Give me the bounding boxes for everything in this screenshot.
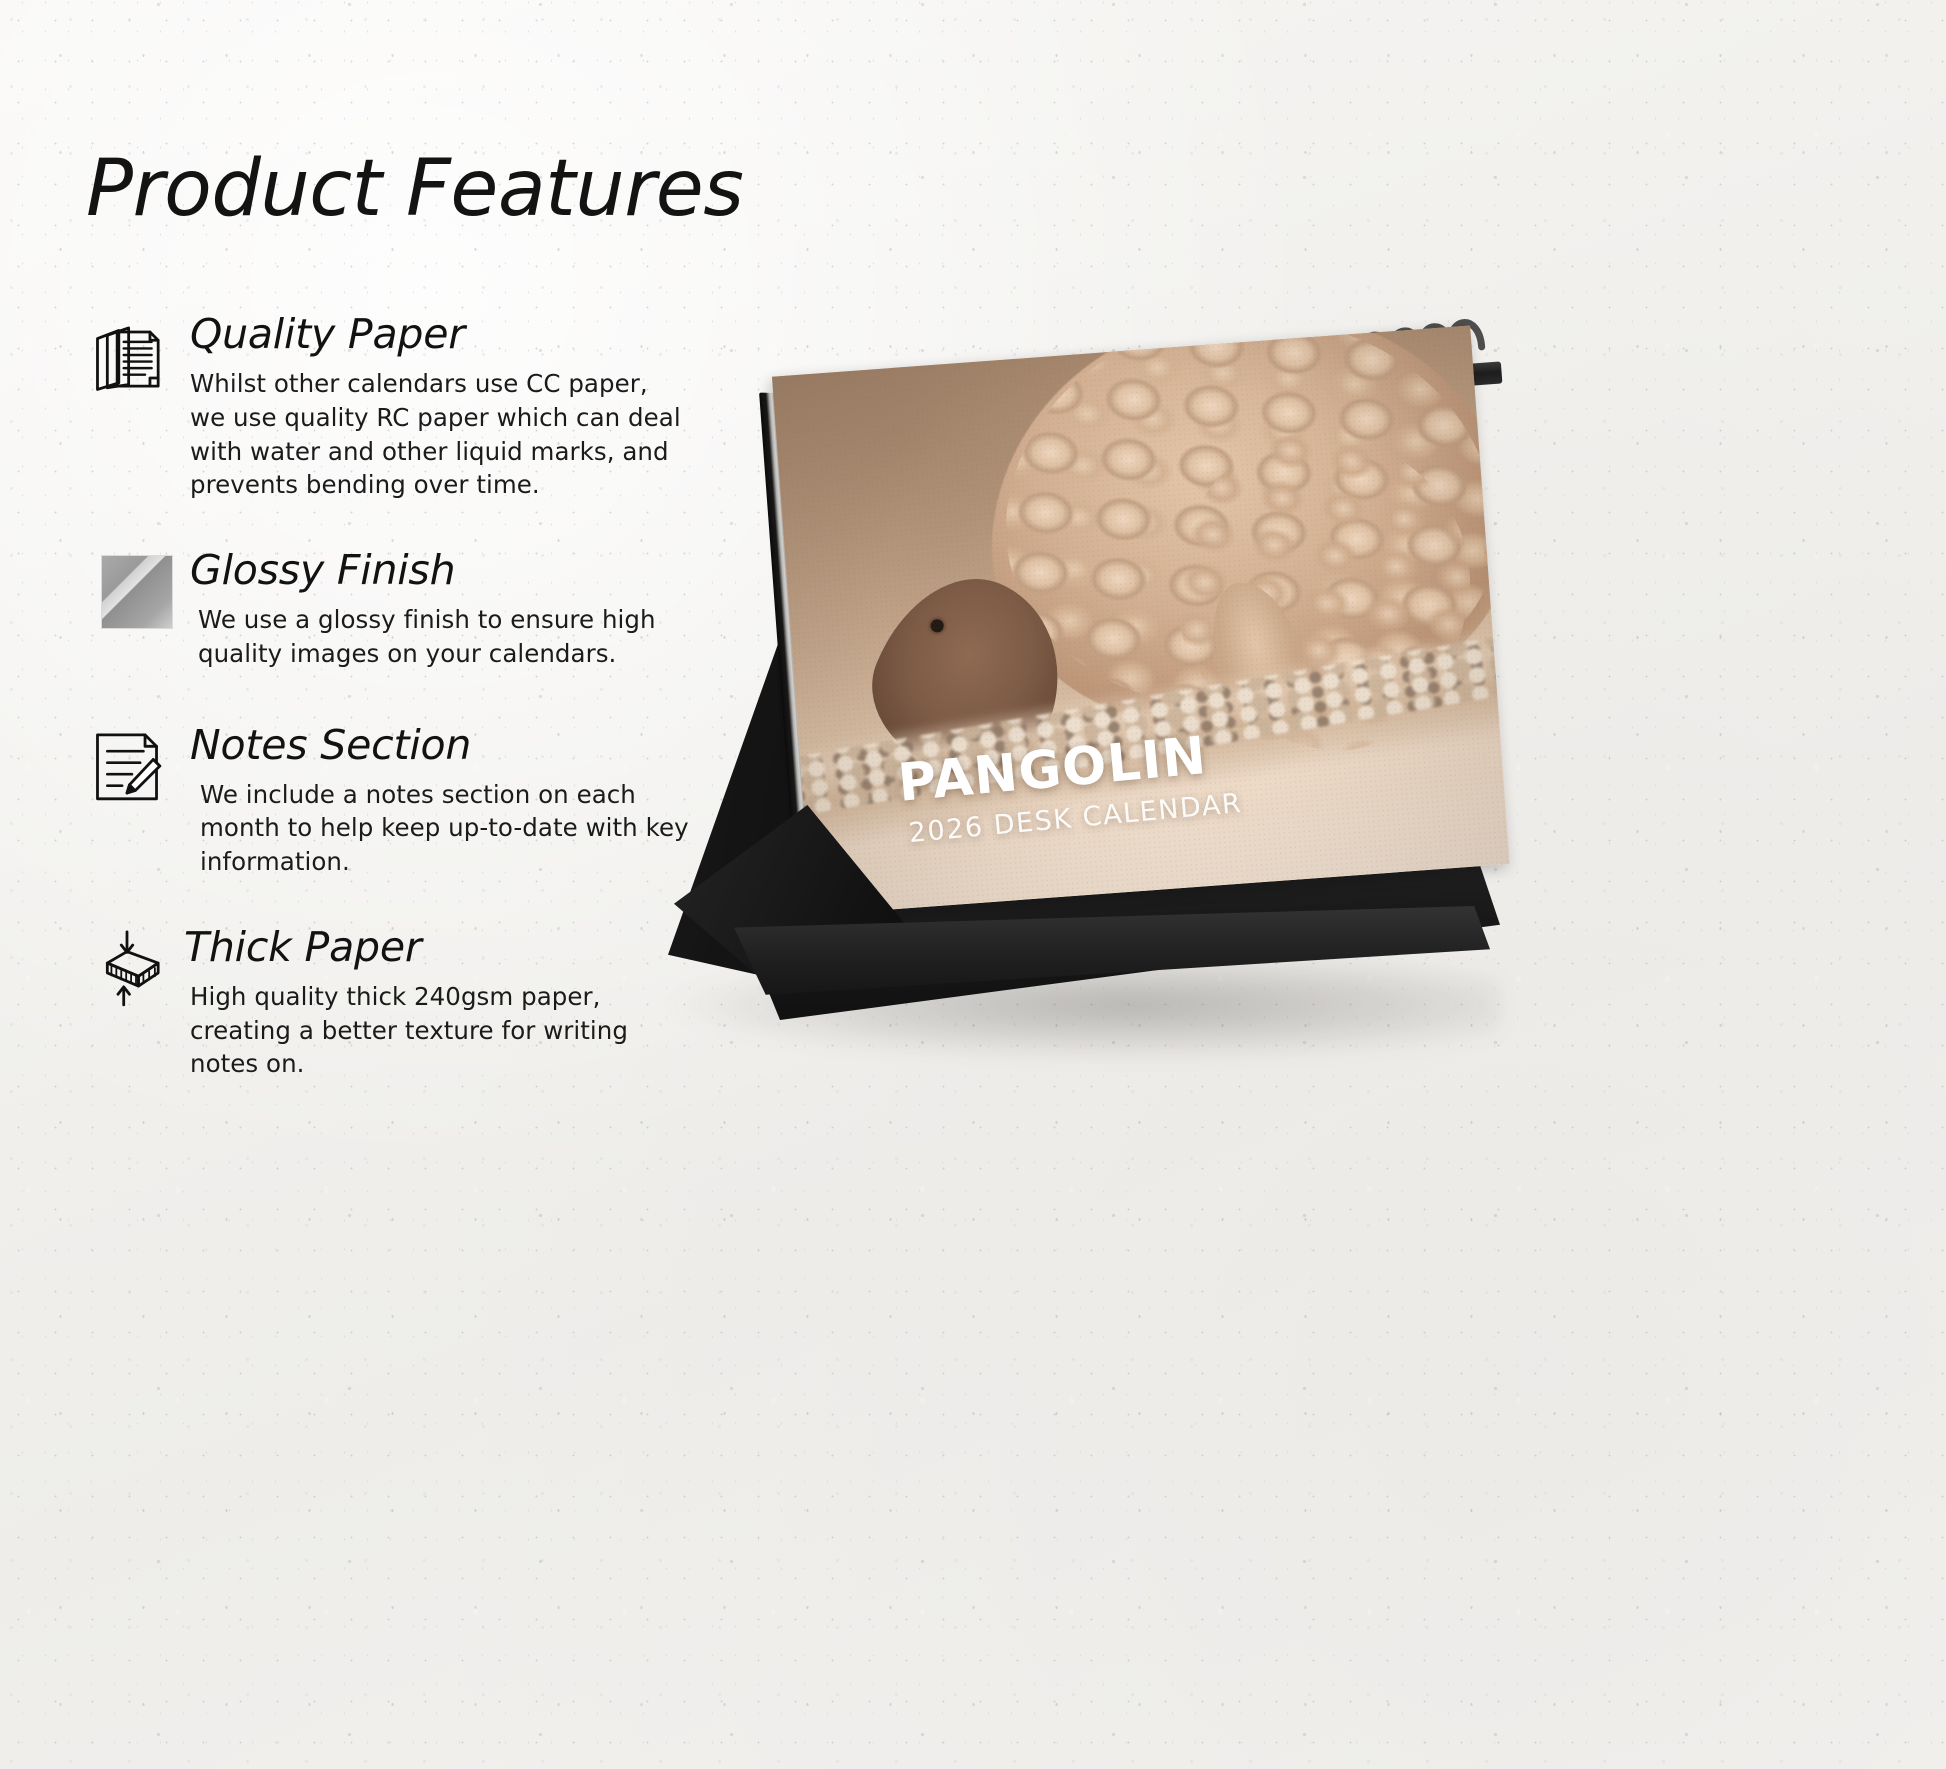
features-column: Product Features Quality Paper Whilst ot…: [86, 150, 726, 1125]
feature-body: We use a glossy finish to ensure high qu…: [198, 603, 698, 671]
pangolin-desk-calendar-mockup: PANGOLIN 2026 DESK CALENDAR: [660, 350, 1560, 1110]
feature-title: Glossy Finish: [190, 548, 726, 594]
calendar-front-cover: [772, 323, 1543, 955]
feature-body: Whilst other calendars use CC paper, we …: [190, 367, 690, 502]
feature-item-notes-section: Notes Section We include a notes section…: [86, 723, 726, 879]
page-title: Product Features: [86, 150, 726, 228]
feature-title: Quality Paper: [190, 312, 726, 358]
feature-title: Notes Section: [190, 723, 726, 769]
stacked-documents-icon: [86, 314, 168, 396]
feature-title: Thick Paper: [184, 925, 726, 971]
note-with-pencil-icon: [86, 725, 168, 807]
feature-item-glossy-finish: Glossy Finish We use a glossy finish to …: [86, 548, 726, 671]
paper-thickness-arrows-icon: [86, 927, 168, 1009]
feature-item-quality-paper: Quality Paper Whilst other calendars use…: [86, 312, 726, 502]
feature-body: We include a notes section on each month…: [200, 778, 700, 879]
feature-item-thick-paper: Thick Paper High quality thick 240gsm pa…: [86, 925, 726, 1081]
feature-body: High quality thick 240gsm paper, creatin…: [190, 980, 690, 1081]
glossy-sheen-square-icon: [102, 556, 172, 628]
